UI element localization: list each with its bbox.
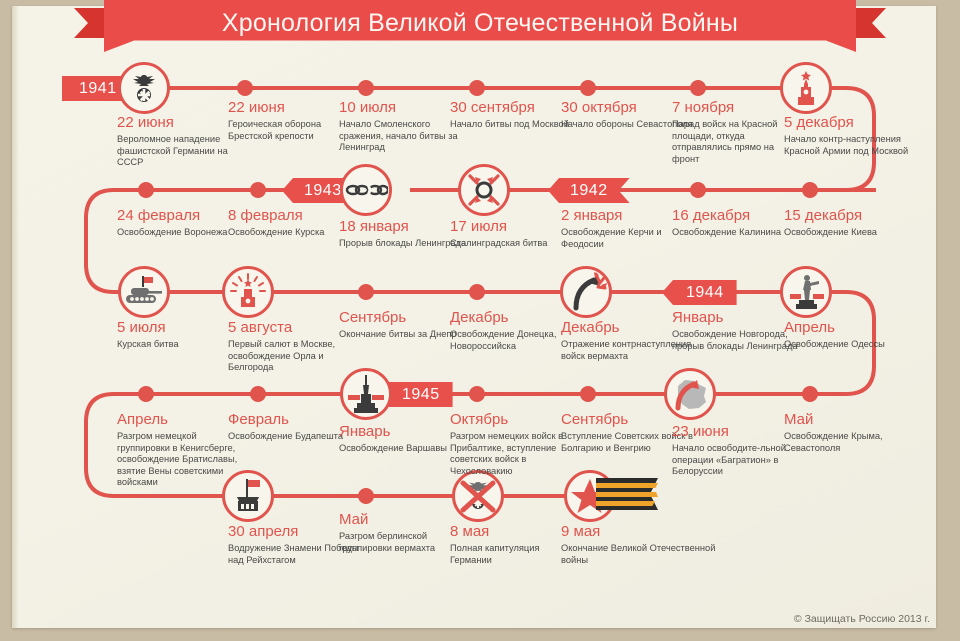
event-r2-e7: 15 декабря Освобождение Киева xyxy=(784,208,916,239)
copyright-credit: © Защищать Россию 2013 г. xyxy=(794,613,930,625)
year-flag-1944: 1944 xyxy=(662,280,737,305)
tank-icon xyxy=(118,266,170,318)
nazi-eagle-icon xyxy=(118,62,170,114)
event-date: Апрель xyxy=(784,320,916,336)
event-date: 15 декабря xyxy=(784,208,916,224)
event-r3-e7: Апрель Освобождение Одессы xyxy=(784,320,916,351)
event-r5-e4: 9 мая Окончание Великой Отечественной во… xyxy=(561,524,721,566)
event-desc: Освобождение Киева xyxy=(784,227,916,239)
event-desc: Начало Смоленского сражения, начало битв… xyxy=(339,119,461,154)
event-r1-e3: 10 июля Начало Смоленского сражения, нач… xyxy=(339,100,461,154)
infographic-root: Хронология Великой Отечественной Войны xyxy=(0,0,960,641)
event-date: 7 ноября xyxy=(672,100,790,116)
st-george-ribbon-icon xyxy=(596,478,658,510)
year-flag-1942: 1942 xyxy=(548,178,630,203)
event-r4-e7: Май Освобождение Крыма, Севастополя xyxy=(784,412,916,454)
event-date: 5 декабря xyxy=(784,115,912,131)
event-desc: Освобождение Крыма, Севастополя xyxy=(784,431,916,454)
event-r1-e7: 5 декабря Начало контр-наступления Красн… xyxy=(784,115,912,157)
event-desc: Окончание Великой Отечественной войны xyxy=(561,543,721,566)
event-date: Май xyxy=(784,412,916,428)
event-desc: Начало контр-наступления Красной Армии п… xyxy=(784,134,912,157)
salute-icon xyxy=(222,266,274,318)
event-date: 10 июля xyxy=(339,100,461,116)
event-desc: Освобождение Одессы xyxy=(784,339,916,351)
event-date: 9 мая xyxy=(561,524,721,540)
encirclement-arrows-icon xyxy=(458,164,510,216)
event-r1-e6: 7 ноября Парад войск на Красной площади,… xyxy=(672,100,790,165)
event-desc: Первый салют в Москве, освобождение Орла… xyxy=(228,339,360,374)
event-desc: Парад войск на Красной площади, откуда о… xyxy=(672,119,790,165)
